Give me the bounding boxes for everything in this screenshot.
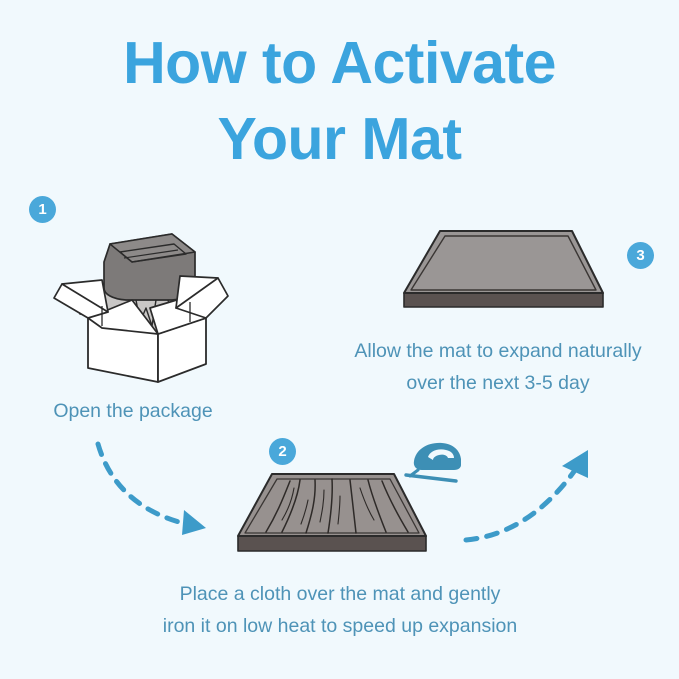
step-3-caption-line-1: Allow the mat to expand naturally [317, 336, 679, 368]
step-1-caption: Open the package [0, 396, 266, 428]
dashed-arrow-step2-to-step3 [462, 440, 602, 555]
open-box-with-mat-icon [40, 222, 230, 392]
step-3-caption-line-2: over the next 3-5 day [317, 368, 679, 400]
page-title-line-1: How to Activate [0, 26, 679, 102]
step-3-caption: Allow the mat to expand naturally over t… [317, 336, 679, 399]
step-3-badge: 3 [627, 242, 654, 269]
flat-mat-icon [396, 219, 611, 329]
infographic-page: How to Activate Your Mat 1 [0, 0, 679, 679]
step-1-badge: 1 [29, 196, 56, 223]
step-2-badge: 2 [269, 438, 296, 465]
step-2-caption-line-2: iron it on low heat to speed up expansio… [119, 611, 561, 643]
step-2-caption: Place a cloth over the mat and gently ir… [119, 579, 561, 642]
iron-icon [398, 437, 468, 492]
page-title-line-2: Your Mat [0, 102, 679, 178]
dashed-arrow-step1-to-step2 [92, 438, 232, 553]
page-title: How to Activate Your Mat [0, 26, 679, 177]
step-1-caption-line-1: Open the package [0, 396, 266, 428]
step-2-caption-line-1: Place a cloth over the mat and gently [119, 579, 561, 611]
